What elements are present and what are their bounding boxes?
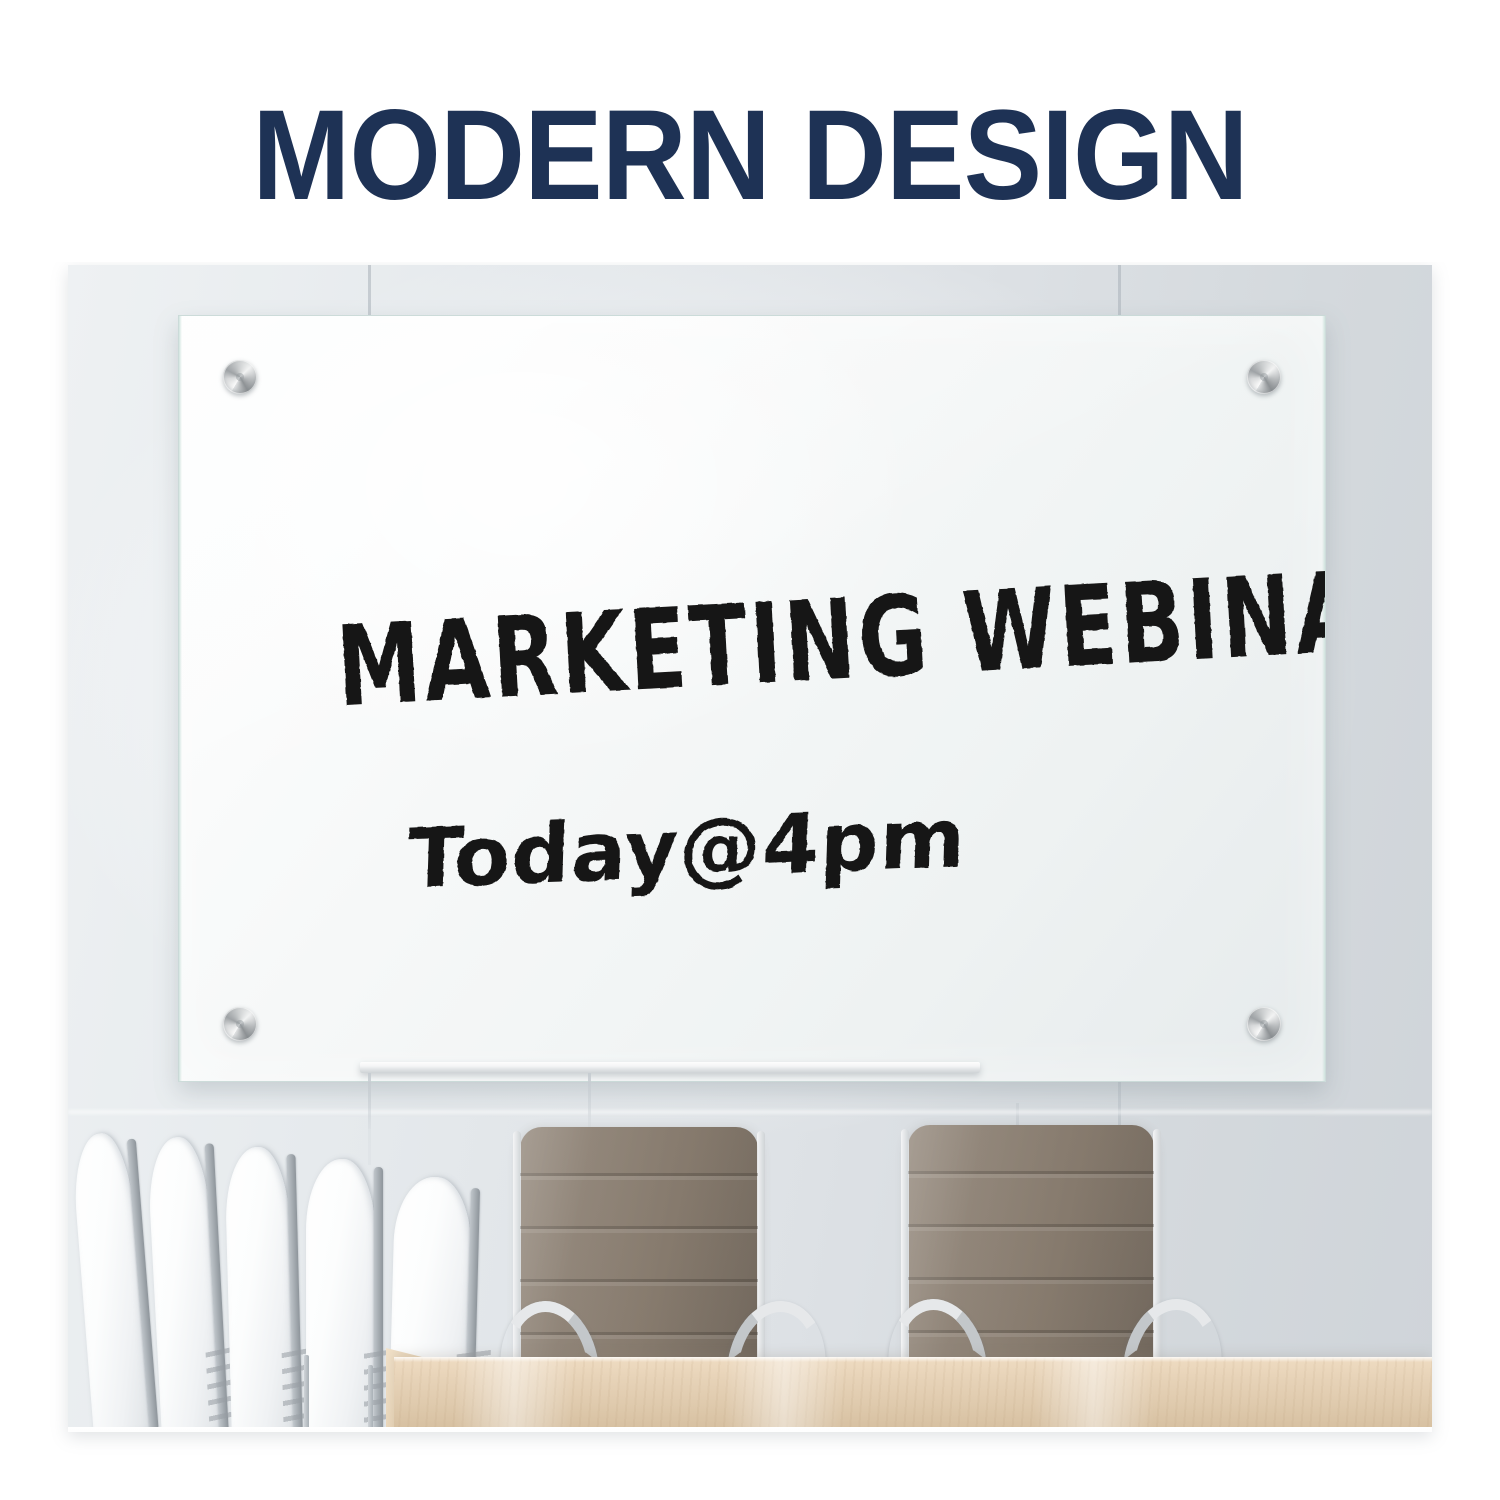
table-top-highlight — [394, 1357, 1432, 1362]
glass-edge-left — [179, 316, 182, 1081]
headline-banner: MODERN DESIGN — [0, 0, 1500, 262]
writing-line-1: MARKETING WEBINAR — [333, 545, 1325, 732]
glass-whiteboard: MARKETING WEBINAR Today@4pm — [178, 315, 1326, 1082]
product-photo: MARKETING WEBINAR Today@4pm — [68, 265, 1432, 1432]
table-reflection — [724, 1357, 844, 1432]
white-chair — [306, 1159, 376, 1432]
tray-support — [368, 1073, 371, 1129]
whiteboard-writing: MARKETING WEBINAR Today@4pm — [179, 316, 1325, 1081]
standoff-mount-bottom-right — [1247, 1007, 1281, 1041]
table-reflection — [454, 1357, 574, 1432]
page-title: MODERN DESIGN — [60, 92, 1440, 220]
white-chair — [224, 1146, 295, 1432]
glass-reflection — [179, 316, 1325, 1081]
writing-line-2: Today@4pm — [407, 791, 968, 908]
white-chair — [146, 1136, 221, 1432]
product-marketing-image: MODERN DESIGN — [0, 0, 1500, 1500]
table-reflection — [1034, 1357, 1154, 1432]
tray-support — [588, 1073, 591, 1129]
standoff-mount-top-right — [1247, 360, 1281, 394]
wall-baseboard — [68, 1110, 1432, 1114]
chair-leg — [304, 1355, 309, 1432]
marker-tray — [360, 1062, 980, 1073]
standoff-mount-bottom-left — [223, 1007, 257, 1041]
chair-leg — [368, 1365, 373, 1432]
conference-table — [394, 1357, 1432, 1432]
white-chair — [70, 1131, 151, 1432]
standoff-mount-top-left — [223, 360, 257, 394]
floor — [68, 1427, 1432, 1432]
glass-edge-right — [1322, 316, 1325, 1081]
